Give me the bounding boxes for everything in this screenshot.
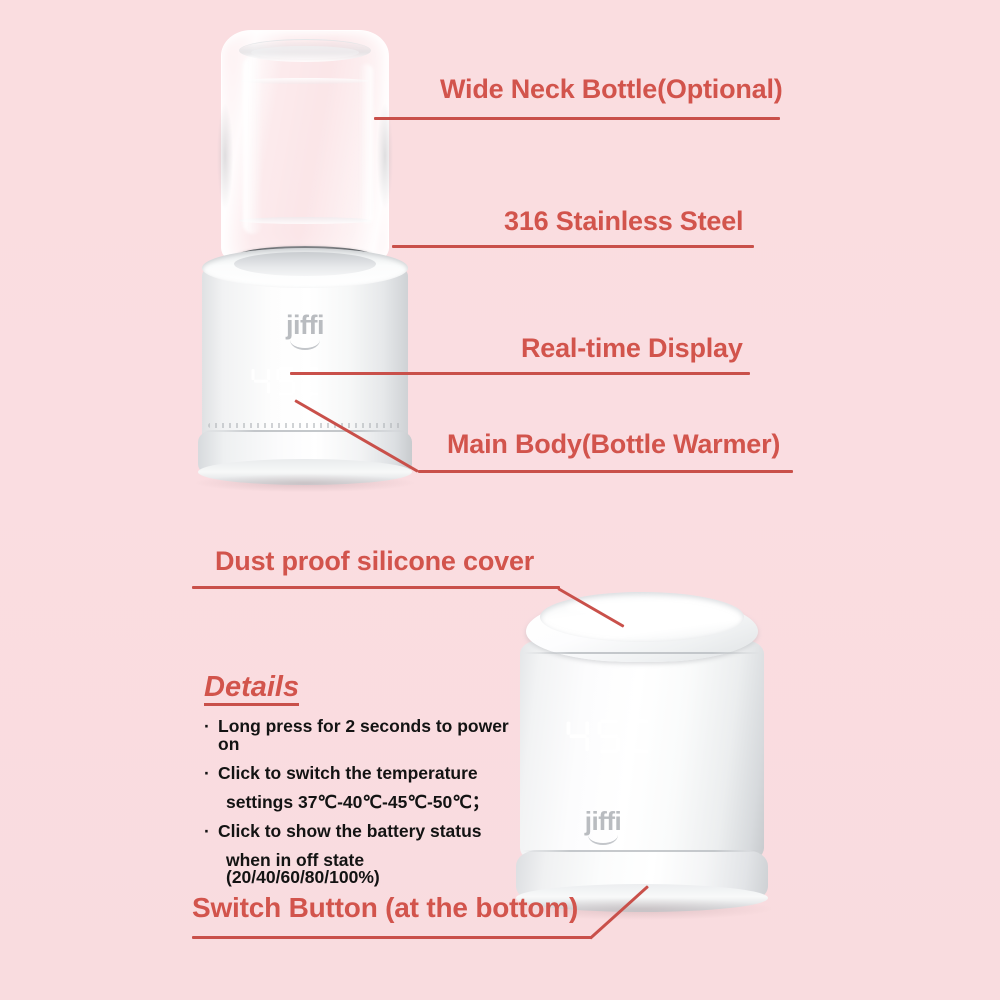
leader-line-stainless-steel [392,245,754,248]
bottle-highlight-right [359,64,373,224]
product-image-bottle-warmer-with-bottle: jiffi [188,18,428,488]
wide-neck-glass-bottle [221,30,389,262]
callout-dust-proof-cover: Dust proof silicone cover [215,546,534,577]
temperature-display-top [251,366,321,396]
callout-stainless-steel: 316 Stainless Steel [504,206,743,237]
callout-switch-button: Switch Button (at the bottom) [192,892,578,924]
led-digit-4 [566,718,590,754]
warmer-base-seam-bottom [522,850,762,852]
warmer-base-texture [208,423,402,428]
bullet-icon: · [204,823,210,841]
warmer-main-body: jiffi [194,250,416,478]
infographic-canvas: jiffi [0,0,1000,1000]
detail-item: · Click to switch the temperature settin… [204,765,534,811]
details-section: Details · Long press for 2 seconds to po… [204,672,534,887]
detail-text-continued: when in off state (20/40/60/80/100%) [218,852,534,887]
bottle-waist-shading-left [217,104,233,208]
jiffi-logo: jiffi [194,312,416,350]
warmer-base-seam [204,430,406,432]
bullet-icon: · [204,718,210,736]
detail-text: Long press for 2 seconds to power on [218,716,509,754]
callout-label: Real-time Display [521,333,743,364]
leader-line-dust-proof-cover [192,586,560,589]
callout-main-body: Main Body(Bottle Warmer) [447,429,780,460]
leader-line-main-body [418,470,793,473]
bottle-top-rim-inner [251,46,359,59]
leader-line-real-time-display [290,372,750,375]
jiffi-smile-icon [290,340,320,350]
detail-item: · Click to show the battery status when … [204,823,534,887]
callout-label: Dust proof silicone cover [215,546,534,577]
jiffi-logo-bottom: jiffi [558,808,648,845]
callout-label: Switch Button (at the bottom) [192,892,578,924]
leader-line-wide-neck-bottle [374,117,780,120]
warmer-top-seam-bottom [524,652,760,654]
detail-text-continued: settings 37℃-40℃-45℃-50℃； [218,794,534,812]
warmer-cylinder [202,266,408,446]
warmer-drop-shadow [196,474,414,492]
led-unit-celsius [628,718,652,754]
callout-label: Wide Neck Bottle(Optional) [440,74,783,105]
warmer-inner-cavity [234,252,376,276]
led-digit-5 [276,366,296,396]
leader-line-switch-button [192,936,592,939]
bottle-highlight-left [243,56,263,234]
detail-text: Click to show the battery status [218,821,482,841]
led-digit-4 [251,366,271,396]
callout-label: Main Body(Bottle Warmer) [447,429,780,460]
jiffi-logo-wordmark: jiffi [558,808,648,834]
led-unit-celsius [301,366,321,396]
led-digit-5 [597,718,621,754]
details-heading: Details [204,672,299,706]
detail-item: · Long press for 2 seconds to power on [204,718,534,753]
dust-proof-silicone-cover [526,588,758,666]
jiffi-smile-icon [588,835,618,845]
callout-wide-neck-bottle: Wide Neck Bottle(Optional) [440,74,783,105]
detail-text: Click to switch the temperature [218,763,478,783]
bullet-icon: · [204,765,210,783]
callout-label: 316 Stainless Steel [504,206,743,237]
jiffi-logo-wordmark: jiffi [194,312,416,339]
temperature-display-bottom [566,718,652,754]
product-image-warmer-with-cover: jiffi [510,588,780,918]
callout-real-time-display: Real-time Display [521,333,743,364]
